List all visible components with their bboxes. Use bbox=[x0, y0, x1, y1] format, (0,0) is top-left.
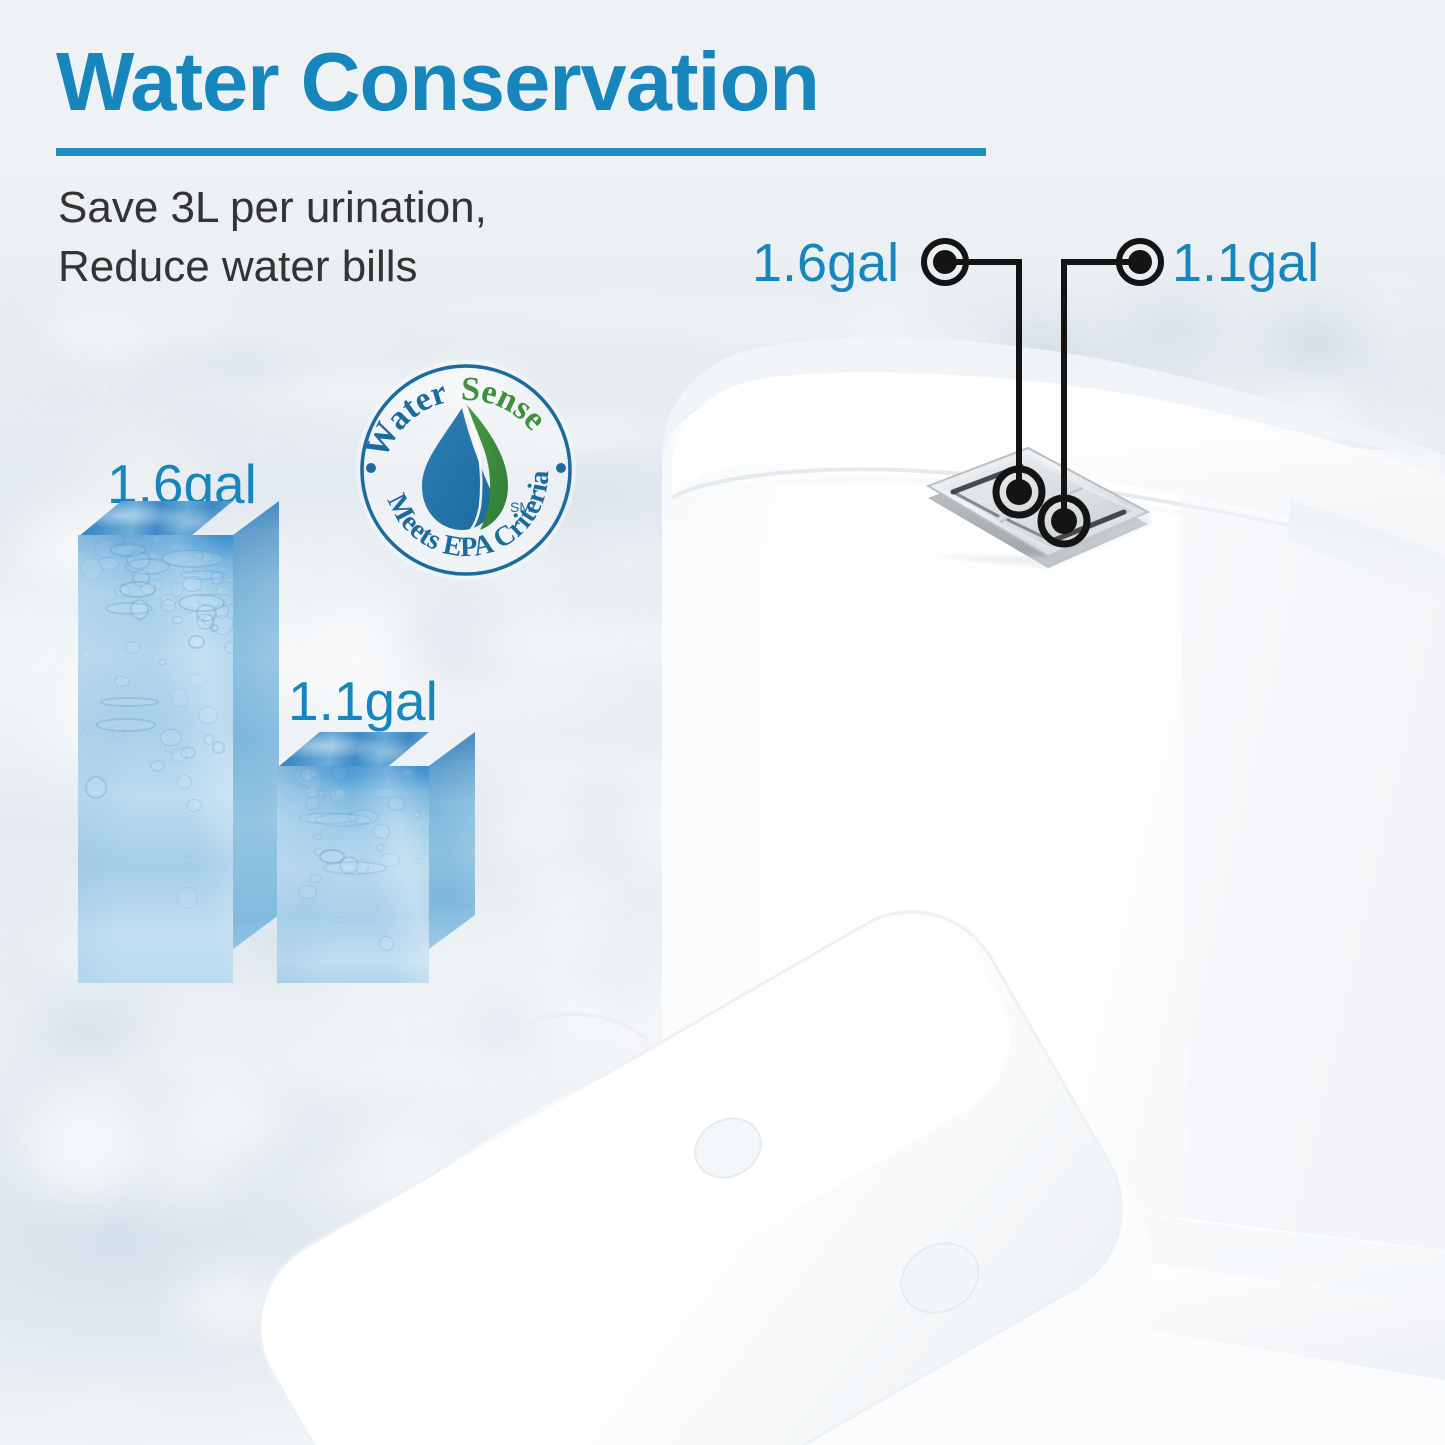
subtitle-line-1: Save 3L per urination, bbox=[58, 178, 487, 237]
watersense-badge: Water Sense Meets EPA Criteria SM bbox=[352, 356, 580, 584]
bar-half-flush bbox=[277, 766, 429, 983]
bar-full-flush bbox=[78, 535, 233, 983]
badge-trademark: SM bbox=[510, 499, 531, 515]
callout-label-full-flush: 1.6gal bbox=[752, 232, 899, 294]
title-underline bbox=[56, 148, 986, 156]
badge-dot-right bbox=[556, 463, 566, 473]
subtitle: Save 3L per urination, Reduce water bill… bbox=[58, 178, 487, 297]
callout-label-half-flush: 1.1gal bbox=[1172, 232, 1319, 294]
bar-label-half-flush: 1.1gal bbox=[288, 669, 438, 733]
page-title: Water Conservation bbox=[56, 40, 819, 123]
marketing-banner: Water Conservation Save 3L per urination… bbox=[0, 0, 1445, 1445]
badge-dot-left bbox=[366, 463, 376, 473]
subtitle-line-2: Reduce water bills bbox=[58, 237, 487, 296]
